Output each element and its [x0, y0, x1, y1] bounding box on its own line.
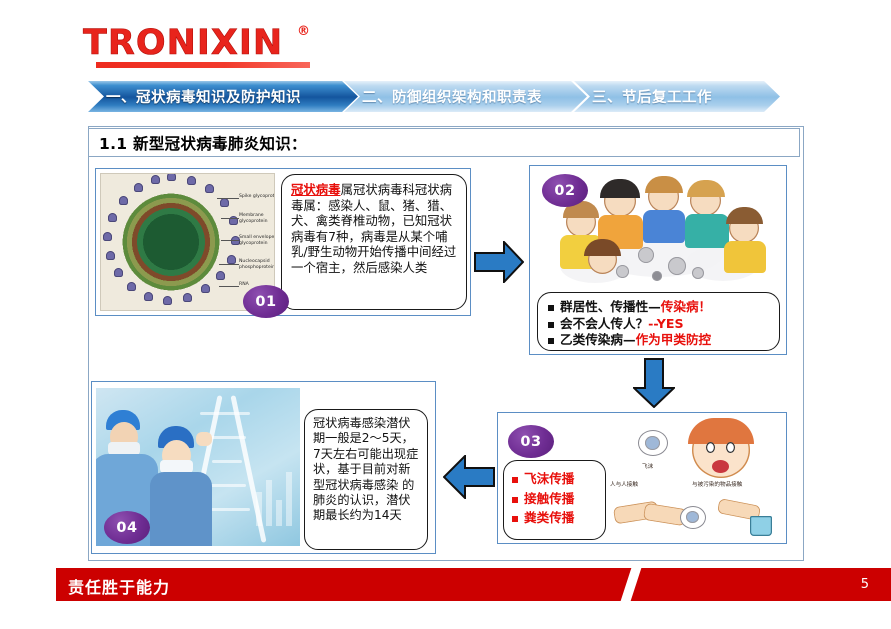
tab-post-holiday-work[interactable]: 三、节后复工工作 — [574, 81, 780, 112]
bullet-text: 群居性、传播性— — [560, 299, 661, 316]
callout-virus-highlight: 冠状病毒 — [291, 182, 341, 197]
bullet-item: 乙类传染病—作为甲类防控 — [548, 332, 779, 349]
incubation-text: 冠状病毒感染潜伏期一般是2～5天，7天左右可能出现症状，基于目前对新型冠状病毒感… — [313, 416, 421, 524]
bullet-text: 会不会人传人？ — [560, 316, 648, 333]
arrow-left-p3-to-p4 — [443, 455, 495, 499]
transmission-routes-image: 飞沫 人与人接触 与被污染的物品接触 — [600, 418, 783, 540]
tab-label: 二、防御组织架构和职责表 — [362, 86, 542, 107]
callout-transmission-bullets: 飞沫传播 接触传播 粪类传播 — [503, 460, 606, 540]
callout-virus-description: 冠状病毒属冠状病毒科冠状病毒属：感染人、鼠、猪、猎、犬、禽类脊椎动物，已知冠状病… — [281, 174, 467, 310]
bullet-square-icon — [512, 516, 518, 522]
virus-label-membrane-2: glycoprotein — [239, 219, 268, 225]
bullet-square-icon — [512, 497, 518, 503]
virus-label-rna: RNA — [239, 282, 249, 288]
bullet-text-red: 作为甲类防控 — [636, 332, 712, 349]
callout-virus-text: 冠状病毒属冠状病毒科冠状病毒属：感染人、鼠、猪、猎、犬、禽类脊椎动物，已知冠状病… — [291, 182, 458, 276]
incubation-seg-3: 7天 — [313, 447, 333, 461]
tab-label: 三、节后复工工作 — [592, 86, 712, 107]
virus-label-small-envelope-2: glycoprotein — [239, 241, 268, 247]
virus-label-spike: Spike glycoprotein — [239, 194, 275, 200]
tab-defense-organization[interactable]: 二、防御组织架构和职责表 — [344, 81, 587, 112]
footer-slash-divider — [621, 568, 642, 601]
brand-underline-bar — [96, 62, 310, 68]
virus-label-nucleocapsid-2: phosphoprotein — [239, 265, 275, 271]
bullet-text: 乙类传染病— — [560, 332, 636, 349]
brand-name: TRONIXIN — [83, 23, 283, 63]
arrow-right-p1-to-p2 — [474, 241, 524, 283]
bullet-square-icon — [548, 322, 554, 328]
callout-incubation-text: 冠状病毒感染潜伏期一般是2～5天，7天左右可能出现症状，基于目前对新型冠状病毒感… — [304, 409, 428, 550]
badge-04: 04 — [104, 511, 150, 544]
bullet-item: 会不会人传人？ --YES — [548, 316, 779, 333]
bullet-item: 粪类传播 — [512, 508, 605, 528]
bullet-item: 接触传播 — [512, 489, 605, 509]
bullet-item: 群居性、传播性—传染病！ — [548, 299, 779, 316]
section-title-bar: 1.1 新型冠状病毒肺炎知识： — [88, 128, 800, 157]
bullet-item: 飞沫传播 — [512, 469, 605, 489]
bullet-text: 飞沫传播 — [524, 469, 574, 489]
footer-bar: 责任胜于能力 5 — [56, 568, 891, 601]
bullet-square-icon — [512, 477, 518, 483]
page-title: 1.1 新型冠状病毒肺炎知识： — [99, 132, 307, 154]
bullet-square-icon — [548, 338, 554, 344]
tab-coronavirus-knowledge[interactable]: 一、冠状病毒知识及防护知识 — [88, 81, 358, 112]
bullet-text-red: --YES — [648, 316, 683, 333]
bullet-square-icon — [548, 305, 554, 311]
bullet-text-red: 传染病 — [661, 299, 699, 316]
virus-spike-ring — [105, 176, 237, 308]
page-number: 5 — [861, 577, 869, 592]
transmission-label-contaminated-object: 与被污染的物品接触 — [692, 480, 742, 488]
tab-label: 一、冠状病毒知识及防护知识 — [106, 86, 301, 107]
incubation-seg-1: 2～5天 — [362, 431, 402, 445]
transmission-label-droplet: 飞沫 — [642, 462, 653, 470]
bullet-text: 接触传播 — [524, 489, 574, 509]
bullet-text: 粪类传播 — [524, 508, 574, 528]
incubation-seg-5: 14天 — [374, 508, 402, 522]
callout-transmissibility-bullets: 群居性、传播性—传染病！ 会不会人传人？ --YES 乙类传染病—作为甲类防控 — [537, 292, 780, 351]
bullet-text-tail: ！ — [699, 299, 712, 316]
slide-root: TRONIXIN ® 一、冠状病毒知识及防护知识 二、防御组织架构和职责表 三、… — [0, 0, 891, 629]
registered-trademark-icon: ® — [297, 24, 310, 39]
footer-slogan: 责任胜于能力 — [68, 574, 170, 598]
badge-01: 01 — [243, 285, 289, 318]
incubation-seg-2: ， — [402, 431, 414, 445]
transmission-label-person-to-person: 人与人接触 — [610, 480, 638, 488]
badge-03: 03 — [508, 425, 554, 458]
badge-02: 02 — [542, 174, 588, 207]
arrow-down-p2-to-p3 — [633, 358, 675, 408]
